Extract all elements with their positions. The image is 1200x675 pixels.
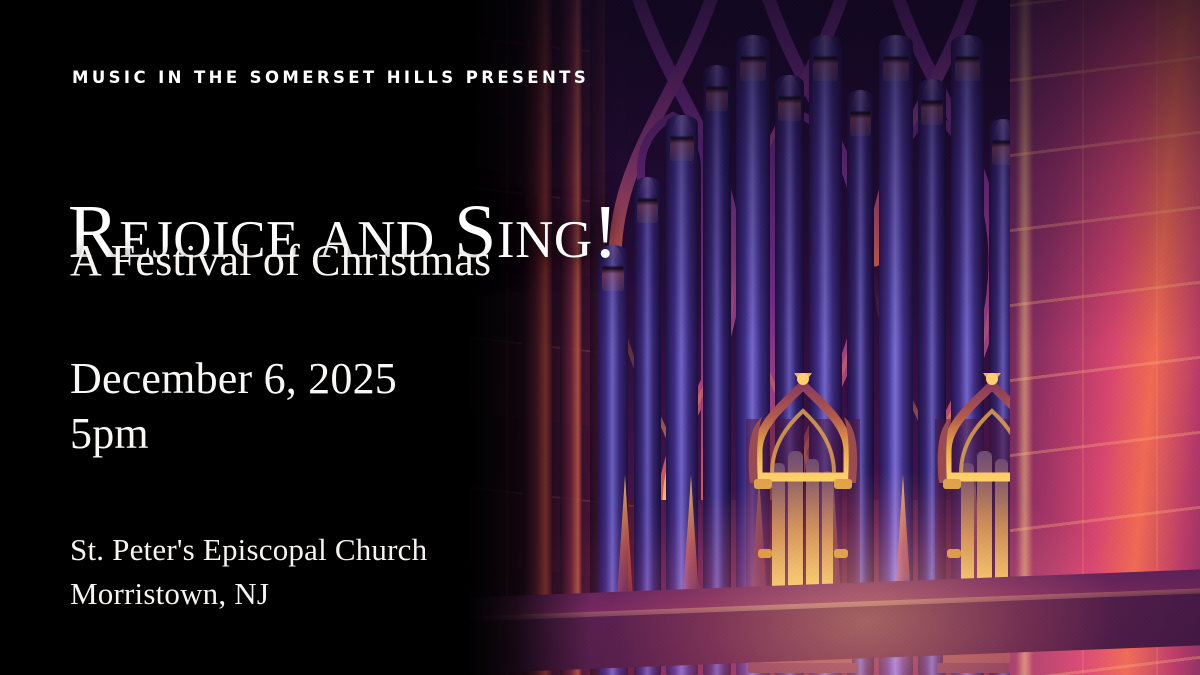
event-venue: St. Peter's Episcopal Church Morristown,… — [70, 528, 427, 616]
poster-text-content: MUSIC IN THE SOMERSET HILLS PRESENTS Rej… — [0, 0, 760, 675]
event-datetime: December 6, 2025 5pm — [70, 352, 397, 461]
presenter-eyebrow: MUSIC IN THE SOMERSET HILLS PRESENTS — [72, 68, 589, 87]
pillar-highlight-edge — [1016, 0, 1032, 675]
venue-location: Morristown, NJ — [70, 572, 427, 616]
poster-subtitle: A Festival of Christmas — [70, 237, 491, 285]
event-time: 5pm — [70, 407, 397, 462]
event-poster: MUSIC IN THE SOMERSET HILLS PRESENTS Rej… — [0, 0, 1200, 675]
event-date: December 6, 2025 — [70, 352, 397, 407]
venue-name: St. Peter's Episcopal Church — [70, 528, 427, 572]
